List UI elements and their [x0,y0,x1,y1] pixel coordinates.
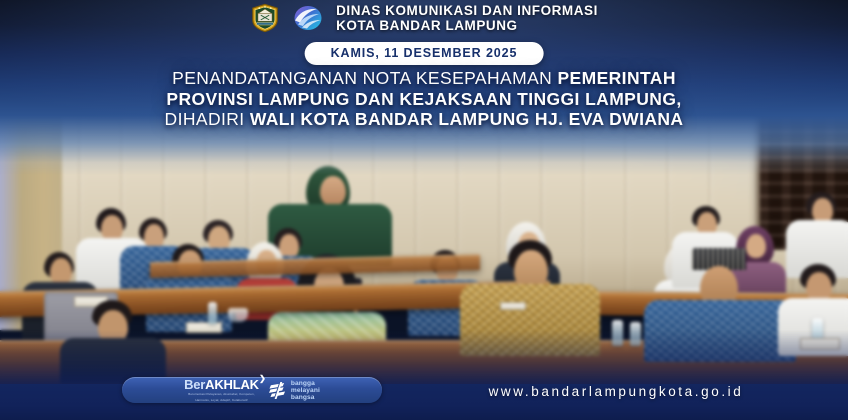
headline-line-1-bold: PEMERINTAH [557,68,675,88]
berakhlak-prefix: Ber [184,377,205,392]
berakhlak-subtitle-1: Berorientasi Pelayanan, Akuntabel, Kompe… [184,393,259,397]
bmb-line-2: melayani [291,387,320,394]
uniform-nametag [500,302,526,310]
face [746,234,766,258]
agency-name: DINAS KOMUNIKASI DAN INFORMASI KOTA BAND… [336,3,598,33]
date-badge: KAMIS, 11 DESEMBER 2025 [305,42,544,65]
bmb-line-3: bangsa [291,394,320,401]
agency-name-line2: KOTA BANDAR LAMPUNG [336,18,598,33]
bangga-melayani-bangsa-lockup: bangga melayani bangsa [268,380,320,401]
lampung-city-crest-icon [250,3,280,33]
headline-line-1: PENANDATANGANAN NOTA KESEPAHAMAN PEMERIN… [30,68,818,89]
social-media-poster: DINAS KOMUNIKASI DAN INFORMASI KOTA BAND… [0,0,848,420]
headline-line-3-bold: WALI KOTA BANDAR LAMPUNG HJ. EVA DWIANA [250,109,684,129]
kominfo-swirl-logo-icon [290,4,326,32]
face [50,258,72,285]
headline-line-3-light: DIHADIRI [165,109,250,129]
headline-line-2: PROVINSI LAMPUNG DAN KEJAKSAAN TINGGI LA… [30,89,818,110]
berakhlak-wordmark: BerAKHLAK Berorientasi Pelayanan, Akunta… [184,378,259,403]
berakhlak-word: BerAKHLAK [184,378,259,391]
berakhlak-main: AKHLAK [205,377,259,392]
water-bottle [208,302,217,324]
chevron-tick-icon: ❯ [259,375,266,383]
face [320,176,346,206]
drinking-glass [228,308,248,322]
bangga-melayani-bangsa-icon [268,382,287,399]
bangga-melayani-bangsa-text: bangga melayani bangsa [291,380,320,401]
berakhlak-subtitle-2: Harmonis, Loyal, Adaptif, Kolaboratif [184,399,259,403]
headline-line-1-light: PENANDATANGANAN NOTA KESEPAHAMAN [172,68,557,88]
bmb-line-1: bangga [291,380,320,387]
agency-branding: DINAS KOMUNIKASI DAN INFORMASI KOTA BAND… [0,3,848,33]
headline: PENANDATANGANAN NOTA KESEPAHAMAN PEMERIN… [0,68,848,130]
berakhlak-badge: BerAKHLAK Berorientasi Pelayanan, Akunta… [122,377,382,403]
agency-name-line1: DINAS KOMUNIKASI DAN INFORMASI [336,3,598,18]
headline-line-3: DIHADIRI WALI KOTA BANDAR LAMPUNG HJ. EV… [30,109,818,130]
website-url[interactable]: www.bandarlampungkota.go.id [416,384,816,399]
headline-line-2-bold: PROVINSI LAMPUNG DAN KEJAKSAAN TINGGI LA… [166,89,681,109]
